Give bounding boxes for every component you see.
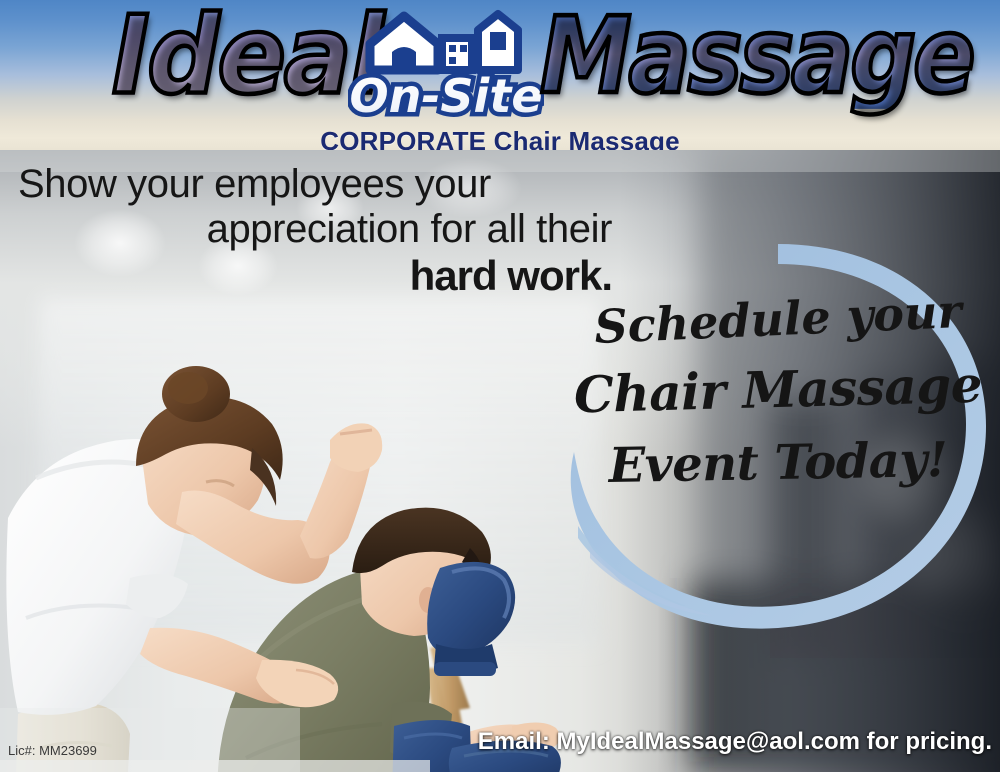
- headline-line-2: appreciation for all their: [12, 207, 612, 252]
- callout-line-3: Event Today!: [556, 431, 1000, 495]
- headline-block: Show your employees your appreciation fo…: [12, 162, 612, 299]
- callout-line-2: Chair Massage: [555, 354, 1000, 425]
- logo-word-massage: Massage: [540, 4, 973, 109]
- on-site-badge: On-Site: [348, 4, 544, 124]
- flyer-canvas: Ideal: [0, 0, 1000, 772]
- callout-block: Schedule your Chair Massage Event Today!: [556, 228, 1000, 668]
- logo-word-ideal: Ideal: [112, 2, 382, 110]
- header-band: Ideal: [0, 0, 1000, 150]
- license-number-text: Lic#: MM23699: [8, 743, 97, 758]
- email-contact-text: Email: MyIdealMassage@aol.com for pricin…: [478, 728, 992, 756]
- header-tagline: CORPORATE Chair Massage: [0, 126, 1000, 150]
- on-site-label: On-Site: [349, 69, 542, 123]
- headline-line-1: Show your employees your: [12, 162, 612, 207]
- house-icon: [370, 14, 518, 70]
- callout-script-text: Schedule your Chair Massage Event Today!: [556, 292, 1000, 491]
- headline-line-3: hard work.: [12, 252, 612, 299]
- callout-line-1: Schedule your: [555, 282, 1000, 355]
